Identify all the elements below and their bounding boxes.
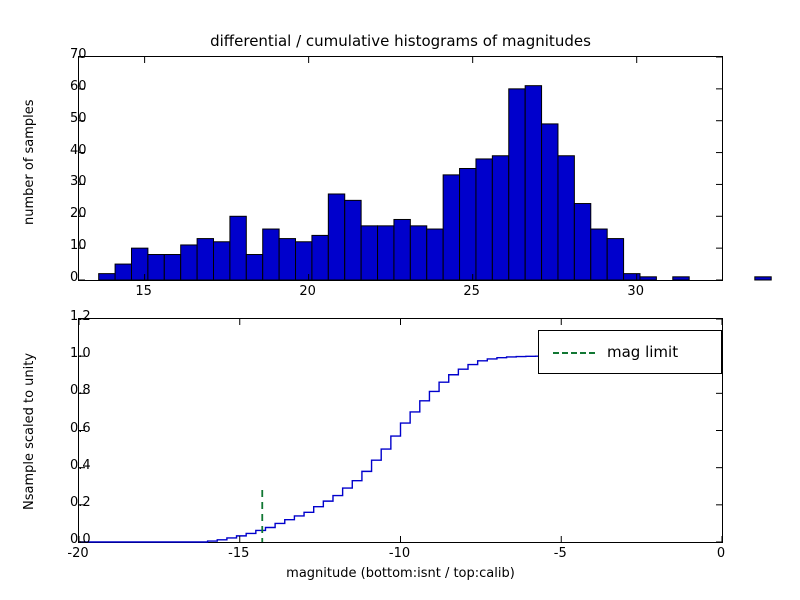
histogram-bar [591,229,607,280]
histogram-bar [624,274,640,280]
legend-line-mag-limit [553,352,595,354]
histogram-bar [148,255,164,280]
histogram-bar [755,277,771,280]
histogram-bar [460,169,476,281]
tick-label: 15 [135,284,152,299]
figure-canvas: differential / cumulative histograms of … [0,0,800,600]
histogram-bar [607,239,623,280]
figure-xlabel: magnitude (bottom:isnt / top:calib) [78,566,723,581]
histogram-bar [312,235,328,280]
histogram-bar [361,226,377,280]
tick-label: -20 [67,546,88,561]
histogram-bar [443,175,459,280]
cumulative-line [79,356,722,542]
histogram-bar [345,200,361,280]
legend[interactable]: mag limit [538,330,722,374]
tick-label: 0 [717,546,725,561]
histogram-bar [115,264,131,280]
histogram-bar [525,86,541,280]
histogram-bar [410,226,426,280]
histogram-bar [673,277,689,280]
histogram-bar [131,248,147,280]
histogram-bar [214,242,230,280]
histogram-bar [328,194,344,280]
histogram-bar [181,245,197,280]
histogram-bar [230,216,246,280]
tick-label: -5 [554,546,567,561]
histogram-bar [263,229,279,280]
histogram-bar [542,124,558,280]
tick-label: -15 [228,546,249,561]
histogram-bar [197,239,213,280]
figure-title: differential / cumulative histograms of … [78,32,723,50]
bottom-panel-ylabel: Nsample scaled to unity [22,353,37,510]
top-panel-ylabel: number of samples [22,99,37,225]
tick-label: -10 [389,546,410,561]
histogram-bar [296,242,312,280]
histogram-bar [164,255,180,280]
histogram-bar [509,89,525,280]
histogram-bar [279,239,295,280]
legend-label-mag-limit: mag limit [607,343,678,361]
histogram-bar [246,255,262,280]
tick-label: 25 [463,284,480,299]
histogram-bar [476,159,492,280]
histogram-bar [427,229,443,280]
histogram-bar [558,156,574,280]
tick-label: 20 [299,284,316,299]
histogram-bar [378,226,394,280]
top-panel-axes [78,56,723,281]
histogram-bar [492,156,508,280]
tick-label: 30 [627,284,644,299]
histogram-bar [574,204,590,280]
histogram-bar [640,277,656,280]
histogram-bar [99,274,115,280]
histogram-bar [394,219,410,280]
histogram-plot [79,57,722,280]
